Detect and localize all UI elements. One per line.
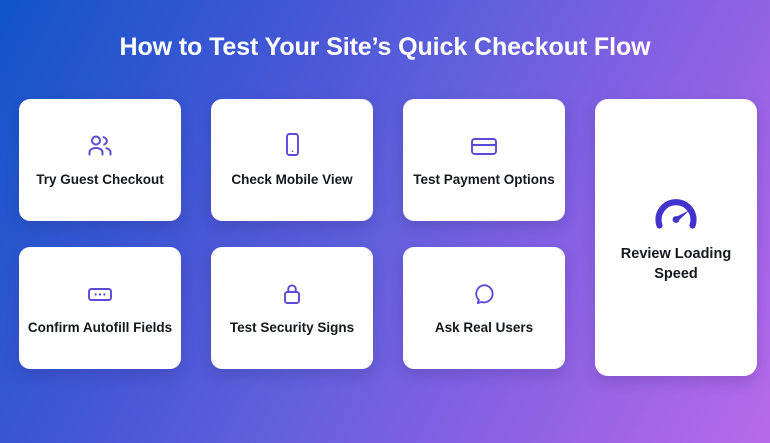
card-confirm-autofill-fields[interactable]: Confirm Autofill Fields bbox=[19, 247, 181, 369]
infographic-canvas: How to Test Your Site’s Quick Checkout F… bbox=[0, 0, 770, 443]
speech-bubble-icon bbox=[472, 279, 496, 309]
speedometer-icon bbox=[653, 192, 699, 232]
card-ask-real-users[interactable]: Ask Real Users bbox=[403, 247, 565, 369]
credit-card-icon bbox=[470, 131, 498, 161]
input-field-dots-icon bbox=[86, 279, 114, 309]
card-check-mobile-view[interactable]: Check Mobile View bbox=[211, 99, 373, 221]
card-label: Review Loading Speed bbox=[603, 244, 749, 284]
smartphone-icon bbox=[282, 131, 302, 161]
users-icon bbox=[87, 131, 113, 161]
card-test-payment-options[interactable]: Test Payment Options bbox=[403, 99, 565, 221]
card-label: Try Guest Checkout bbox=[36, 170, 164, 189]
card-label: Test Security Signs bbox=[230, 318, 354, 337]
card-test-security-signs[interactable]: Test Security Signs bbox=[211, 247, 373, 369]
page-title: How to Test Your Site’s Quick Checkout F… bbox=[0, 32, 770, 62]
lock-icon bbox=[281, 279, 303, 309]
card-label: Test Payment Options bbox=[413, 170, 555, 189]
card-label: Ask Real Users bbox=[435, 318, 533, 337]
card-label: Check Mobile View bbox=[231, 170, 352, 189]
card-try-guest-checkout[interactable]: Try Guest Checkout bbox=[19, 99, 181, 221]
card-label: Confirm Autofill Fields bbox=[28, 318, 172, 337]
card-review-loading-speed[interactable]: Review Loading Speed bbox=[595, 99, 757, 376]
